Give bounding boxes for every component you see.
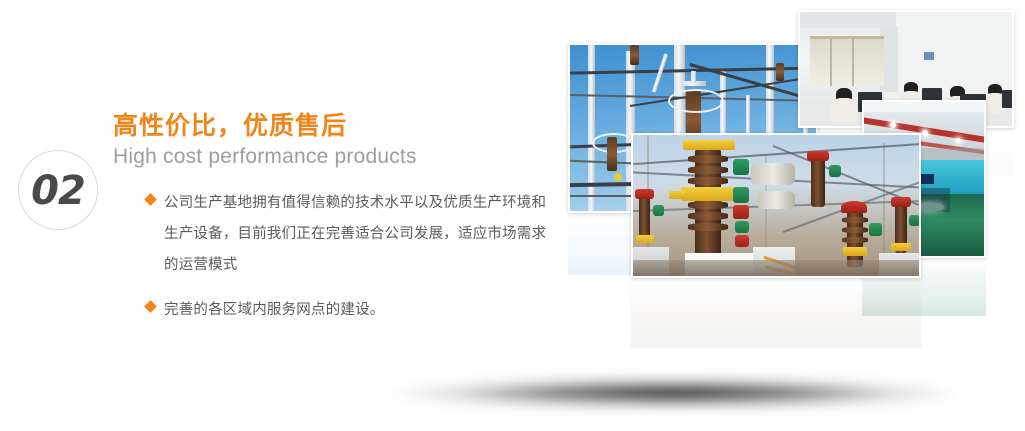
feature-list: 公司生产基地拥有值得信赖的技术水平以及优质生产环境和生产设备，目前我们正在完善适… bbox=[146, 188, 556, 326]
list-item-text: 完善的各区域内服务网点的建设。 bbox=[164, 295, 556, 326]
list-item: 公司生产基地拥有值得信赖的技术水平以及优质生产环境和生产设备，目前我们正在完善适… bbox=[146, 188, 556, 281]
photo-switchgear-winter bbox=[631, 133, 921, 278]
section-number-badge: 02 bbox=[18, 150, 98, 230]
reflection-switchgear-winter bbox=[631, 278, 921, 348]
diamond-bullet-icon bbox=[144, 300, 157, 313]
list-item: 完善的各区域内服务网点的建设。 bbox=[146, 295, 556, 326]
diamond-bullet-icon bbox=[144, 193, 157, 206]
heading-block: 高性价比，优质售后 High cost performance products bbox=[113, 112, 553, 170]
list-item-text: 公司生产基地拥有值得信赖的技术水平以及优质生产环境和生产设备，目前我们正在完善适… bbox=[164, 188, 556, 281]
page-title-en: High cost performance products bbox=[113, 144, 553, 170]
page-title-cn: 高性价比，优质售后 bbox=[113, 112, 553, 140]
section-number: 02 bbox=[31, 171, 85, 211]
promo-banner: 02 高性价比，优质售后 High cost performance produ… bbox=[0, 0, 1025, 431]
